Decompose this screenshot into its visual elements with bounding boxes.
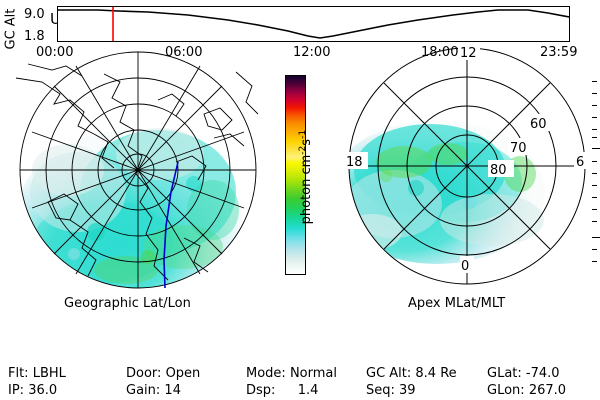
mlat-label-60: 60 [530, 117, 547, 132]
timeline-xtick-3: 18:00 [421, 46, 458, 59]
colorbar-axis-label: photon cm-2s-1 [298, 77, 314, 277]
status-door-label: Door: [126, 366, 161, 381]
status-gcalt-label: GC Alt: [366, 366, 411, 381]
timeline-xtick-0: 00:00 [36, 46, 73, 59]
status-flt: Flt: LBHL [8, 366, 66, 381]
status-gain-label: Gain: [126, 383, 160, 398]
status-dsp: Dsp: 1.4 [246, 383, 318, 398]
status-ip-value: 36.0 [28, 383, 57, 398]
status-glon-label: GLon: [487, 383, 525, 398]
mlat-label-70: 70 [510, 141, 527, 156]
colorbar-unit-mid: s [299, 139, 314, 146]
status-dsp-value: 1.4 [298, 383, 319, 398]
colorbar-unit-main: photon cm [299, 155, 314, 225]
status-dsp-label: Dsp: [246, 383, 275, 398]
latitude-longitude-grid [20, 52, 256, 288]
status-gain: Gain: 14 [126, 383, 181, 398]
timeline-xtick-4: 23:59 [540, 46, 577, 59]
mlt-label-6: 6 [576, 155, 584, 170]
status-gcalt-value: 8.4 Re [415, 366, 456, 381]
status-mode-label: Mode: [246, 366, 286, 381]
status-mode-value: Normal [290, 366, 337, 381]
status-gcalt: GC Alt: 8.4 Re [366, 366, 457, 381]
status-seq-label: Seq: [366, 383, 395, 398]
colorbar-unit-exp1: -2 [298, 146, 308, 155]
left-panel-caption: Geographic Lat/Lon [64, 296, 191, 311]
status-glon-value: 267.0 [529, 383, 566, 398]
mlat-mlt-grid [349, 48, 585, 284]
status-glat: GLat: -74.0 [487, 366, 560, 381]
timeline-ytick-low: 1.8 [24, 30, 45, 43]
mlt-label-0: 0 [461, 259, 469, 274]
status-ip: IP: 36.0 [8, 383, 57, 398]
status-seq: Seq: 39 [366, 383, 416, 398]
colorbar-tick-10 [591, 237, 600, 238]
timeline-xtick-2: 12:00 [293, 46, 330, 59]
timeline-y-axis-label: GC Alt [2, 8, 20, 48]
status-footer: Flt: LBHL Door: Open Mode: Normal GC Alt… [0, 366, 600, 400]
colorbar-tick-100 [591, 148, 600, 149]
timeline-xtick-1: 06:00 [165, 46, 202, 59]
timeline-ytick-high: 9.0 [24, 8, 45, 21]
status-gain-value: 14 [164, 383, 181, 398]
status-door-value: Open [166, 366, 201, 381]
status-glat-value: -74.0 [526, 366, 560, 381]
status-ip-label: IP: [8, 383, 24, 398]
right-panel-caption: Apex MLat/MLT [408, 296, 505, 311]
status-door: Door: Open [126, 366, 200, 381]
mlt-label-12: 12 [460, 46, 477, 61]
colorbar-unit-exp2: -1 [298, 130, 308, 139]
status-seq-value: 39 [399, 383, 416, 398]
status-glon: GLon: 267.0 [487, 383, 566, 398]
apex-magnetic-polar-plot[interactable]: 12 18 6 0 60 70 80 [342, 42, 592, 290]
status-flt-label: Flt: [8, 366, 29, 381]
status-mode: Mode: Normal [246, 366, 337, 381]
mlat-label-80: 80 [490, 163, 507, 178]
timeline-plot-area[interactable] [57, 6, 570, 42]
mlt-label-18: 18 [346, 155, 363, 170]
colorbar-legend[interactable]: 100 10 photon cm-2s-1 [285, 75, 306, 275]
status-glat-label: GLat: [487, 366, 522, 381]
status-flt-value: LBHL [33, 366, 66, 381]
geographic-polar-plot[interactable] [8, 42, 266, 290]
